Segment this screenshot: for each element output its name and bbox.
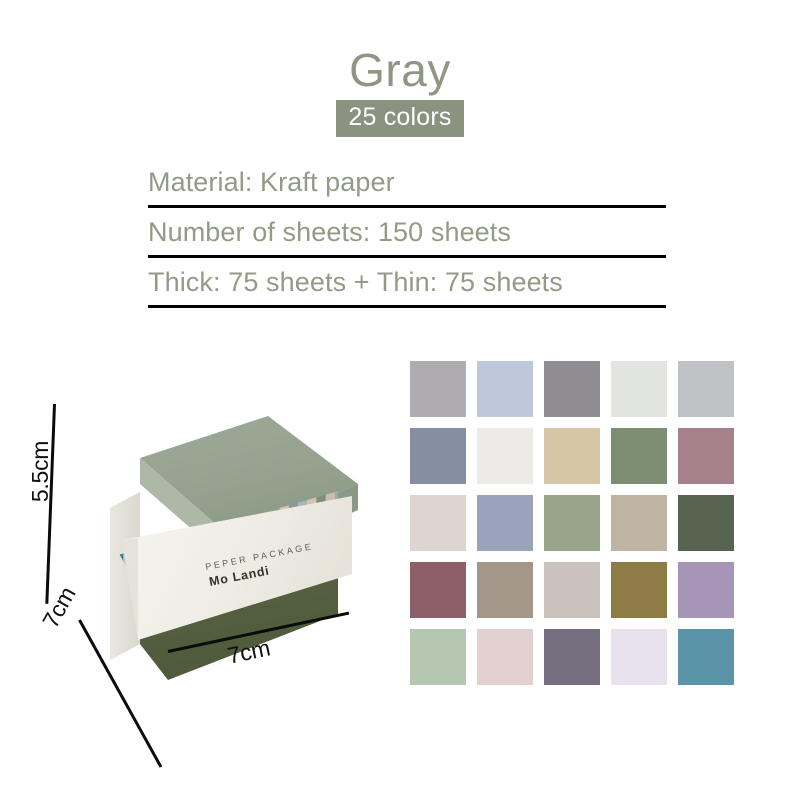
paper-box-illustration: PEPER PACKAGE Mo Landi [18,388,368,700]
color-swatch-light-silver[interactable] [678,361,734,417]
color-swatch-pale-blue-gray[interactable] [477,361,533,417]
color-count-badge: 25 colors [336,100,463,137]
spec-list: Material: Kraft paper Number of sheets: … [148,160,666,310]
spec-row-thickness: Thick: 75 sheets + Thin: 75 sheets [148,260,666,308]
page-title: Gray [0,44,800,96]
color-swatch-sand-beige[interactable] [544,428,600,484]
color-swatch-mushroom-taupe[interactable] [477,562,533,618]
color-swatch-medium-gray[interactable] [544,361,600,417]
color-swatch-teal-blue[interactable] [678,629,734,685]
color-swatch-mint-sage[interactable] [410,629,466,685]
color-swatch-forest-green[interactable] [678,495,734,551]
color-swatch-warm-taupe[interactable] [611,495,667,551]
color-swatch-periwinkle-gray[interactable] [477,495,533,551]
product-photo: PEPER PACKAGE Mo Landi 5.5cm 7cm 7cm [18,388,368,700]
color-swatch-soft-sage[interactable] [544,495,600,551]
color-swatch-sage-green[interactable] [611,428,667,484]
color-swatch-blush-pink[interactable] [477,629,533,685]
color-swatch-dusty-rose[interactable] [678,428,734,484]
color-swatch-mauve-wine[interactable] [410,562,466,618]
spec-row-material: Material: Kraft paper [148,160,666,208]
color-swatch-plum-gray[interactable] [544,629,600,685]
spec-thickness-text: Thick: 75 sheets + Thin: 75 sheets [148,260,666,304]
color-swatch-light-lavender[interactable] [678,562,734,618]
color-swatch-slate-blue[interactable] [410,428,466,484]
header-block: Gray 25 colors [0,44,800,137]
spec-material-text: Material: Kraft paper [148,160,666,204]
color-swatch-pale-lilac[interactable] [611,629,667,685]
spec-row-sheet-count: Number of sheets: 150 sheets [148,210,666,258]
dimension-label-height: 5.5cm [27,441,54,502]
spec-sheet-count-text: Number of sheets: 150 sheets [148,210,666,254]
color-swatch-off-white-gray[interactable] [611,361,667,417]
color-swatch-olive-gold[interactable] [611,562,667,618]
color-swatch-ivory-white[interactable] [477,428,533,484]
color-swatch-pale-pink-gray[interactable] [410,495,466,551]
color-swatch-grid [410,361,734,685]
color-swatch-light-greige[interactable] [544,562,600,618]
color-swatch-cool-gray[interactable] [410,361,466,417]
